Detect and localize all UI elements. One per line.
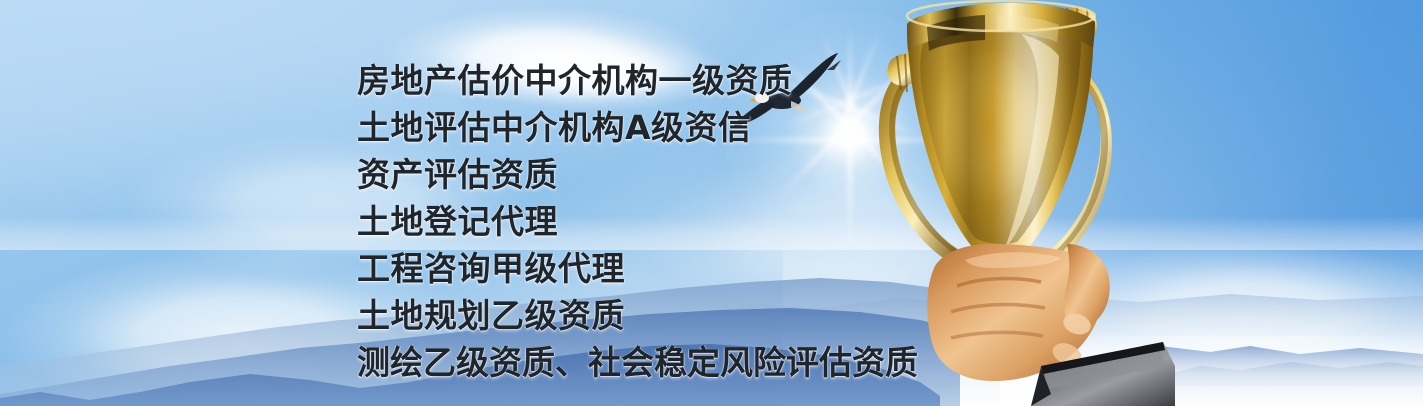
headline-line-7: 测绘乙级资质、社会稳定风险评估资质 — [357, 339, 917, 386]
headline-line-5-suffix: 级代理 — [525, 249, 626, 288]
headline-line-5-emphasis: 甲 — [491, 249, 525, 288]
headline-line-4: 土地登记代理 — [357, 198, 917, 245]
headline-line-6: 土地规划乙级资质 — [357, 292, 917, 339]
headline-line-1: 房地产估价中介机构一级资质 — [357, 57, 917, 104]
hero-banner: 房地产估价中介机构一级资质 土地评估中介机构A级资信 资产评估资质 土地登记代理… — [0, 0, 1423, 406]
headline-text-block: 房地产估价中介机构一级资质 土地评估中介机构A级资信 资产评估资质 土地登记代理… — [357, 57, 917, 386]
headline-line-5: 工程咨询甲级代理 — [357, 245, 917, 292]
headline-line-2: 土地评估中介机构A级资信 — [357, 104, 917, 151]
headline-line-3: 资产评估资质 — [357, 151, 917, 198]
headline-line-5-prefix: 工程咨询 — [357, 249, 491, 288]
